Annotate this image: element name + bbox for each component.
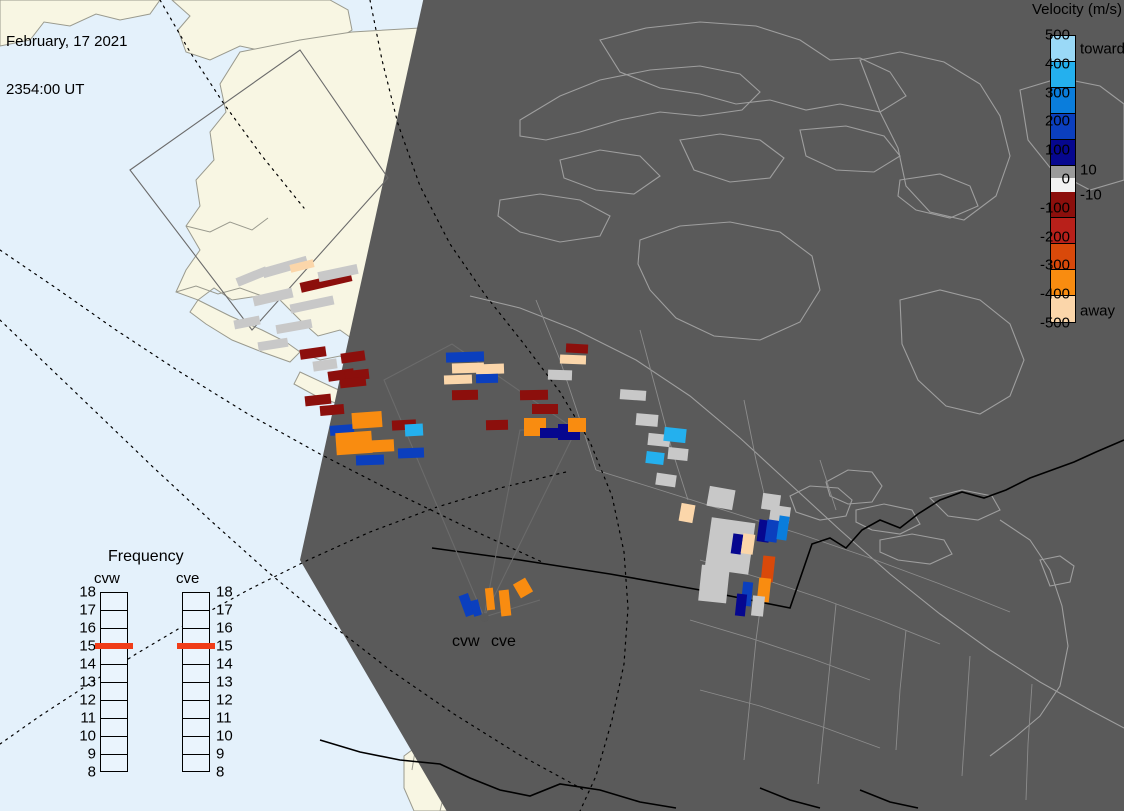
frequency-legend: Frequency cvw18171615141312111098cve1817… — [78, 548, 248, 788]
radar-cell — [364, 439, 395, 453]
frequency-column-cve: cve18171615141312111098 — [160, 570, 226, 785]
colorbar-title: Velocity (m/s) — [1032, 1, 1122, 18]
radar-cell — [532, 404, 558, 414]
colorbar-tick-neg500: -500 — [1040, 315, 1070, 332]
velocity-colorbar: Velocity (m/s) 5004003002001000-100-200-… — [980, 0, 1124, 340]
radar-cell — [405, 424, 424, 437]
frequency-bar-segment — [183, 683, 209, 701]
frequency-tick-cve-10: 10 — [216, 728, 233, 745]
frequency-column-label-cvw: cvw — [94, 570, 120, 587]
radar-map-screenshot: February, 17 2021 2354:00 UT Velocity (m… — [0, 0, 1124, 811]
frequency-marker-cvw — [95, 643, 133, 649]
radar-site-dot — [480, 613, 489, 622]
frequency-tick-cve-11: 11 — [216, 710, 232, 727]
radar-cell — [698, 565, 730, 604]
frequency-column-cvw: cvw18171615141312111098 — [78, 570, 144, 785]
colorbar-tick-500: 500 — [1045, 27, 1070, 44]
frequency-tick-cve-18: 18 — [216, 584, 233, 601]
colorbar-away-label: away — [1080, 303, 1115, 320]
timestamp-date: February, 17 2021 — [6, 34, 127, 50]
colorbar-tick-300: 300 — [1045, 84, 1070, 101]
frequency-bar-segment — [183, 737, 209, 755]
frequency-column-label-cve: cve — [176, 570, 199, 587]
colorbar-tick-neg300: -300 — [1040, 257, 1070, 274]
frequency-bar-segment — [183, 647, 209, 665]
frequency-tick-cve-15: 15 — [216, 638, 233, 655]
colorbar-negative-threshold-label: -10 — [1080, 186, 1102, 203]
radar-cell — [568, 418, 586, 432]
radar-cell — [320, 404, 345, 416]
frequency-bar-segment — [101, 755, 127, 773]
radar-cell — [520, 390, 548, 400]
map-site-label-cve: cve — [491, 633, 516, 651]
radar-cell — [560, 355, 586, 365]
frequency-bar-segment — [183, 719, 209, 737]
frequency-bar-segment — [183, 701, 209, 719]
colorbar-tick-neg200: -200 — [1040, 228, 1070, 245]
frequency-tick-cve-12: 12 — [216, 692, 233, 709]
frequency-tick-cvw-10: 10 — [78, 728, 96, 745]
frequency-bar-segment — [101, 665, 127, 683]
frequency-bar-segment — [183, 665, 209, 683]
frequency-bar-segment — [183, 755, 209, 773]
frequency-tick-cve-14: 14 — [216, 656, 233, 673]
frequency-bar-segment — [101, 593, 127, 611]
frequency-tick-cvw-15: 15 — [78, 638, 96, 655]
timestamp-block: February, 17 2021 2354:00 UT — [6, 2, 127, 130]
radar-cell — [761, 493, 781, 511]
frequency-bar-segment — [101, 647, 127, 665]
frequency-legend-title: Frequency — [108, 548, 184, 566]
radar-cell — [476, 374, 498, 383]
frequency-tick-cvw-11: 11 — [78, 710, 96, 727]
colorbar-tick-0: 0 — [1062, 171, 1070, 188]
radar-cell — [667, 447, 688, 461]
timestamp-time: 2354:00 UT — [6, 82, 127, 98]
radar-cell — [548, 370, 572, 381]
colorbar-tick-neg400: -400 — [1040, 286, 1070, 303]
frequency-tick-cvw-18: 18 — [78, 584, 96, 601]
radar-cell — [645, 451, 664, 465]
radar-cell — [486, 420, 508, 430]
frequency-tick-cvw-12: 12 — [78, 692, 96, 709]
map-site-label-cvw: cvw — [452, 633, 480, 651]
colorbar-positive-threshold-label: 10 — [1080, 162, 1097, 179]
radar-cell — [636, 413, 659, 427]
radar-cell — [356, 455, 384, 466]
frequency-marker-cve — [177, 643, 215, 649]
frequency-tick-cve-16: 16 — [216, 620, 233, 637]
frequency-tick-cvw-13: 13 — [78, 674, 96, 691]
frequency-bar-segment — [101, 683, 127, 701]
frequency-bar-cvw — [100, 592, 128, 772]
radar-cell — [446, 351, 484, 362]
frequency-bar-segment — [183, 611, 209, 629]
frequency-tick-cve-13: 13 — [216, 674, 233, 691]
frequency-tick-cvw-8: 8 — [78, 764, 96, 781]
radar-cell — [452, 390, 478, 400]
radar-cell — [566, 343, 588, 353]
radar-cell — [663, 427, 686, 443]
frequency-tick-cvw-9: 9 — [78, 746, 96, 763]
frequency-tick-cve-17: 17 — [216, 602, 233, 619]
frequency-bar-segment — [101, 611, 127, 629]
colorbar-tick-100: 100 — [1045, 142, 1070, 159]
colorbar-tick-neg100: -100 — [1040, 199, 1070, 216]
frequency-tick-cve-9: 9 — [216, 746, 224, 763]
frequency-tick-cve-8: 8 — [216, 764, 224, 781]
radar-cell — [398, 448, 424, 459]
radar-cell — [351, 411, 382, 429]
radar-cell — [620, 389, 647, 401]
colorbar-tick-400: 400 — [1045, 55, 1070, 72]
frequency-bar-cve — [182, 592, 210, 772]
frequency-tick-cvw-14: 14 — [78, 656, 96, 673]
radar-cell — [476, 364, 504, 375]
frequency-bar-segment — [101, 737, 127, 755]
radar-cell — [751, 595, 765, 616]
colorbar-tick-200: 200 — [1045, 113, 1070, 130]
radar-cell — [444, 375, 472, 385]
colorbar-toward-label: toward — [1080, 41, 1124, 58]
frequency-tick-cvw-16: 16 — [78, 620, 96, 637]
frequency-bar-segment — [183, 593, 209, 611]
frequency-tick-cvw-17: 17 — [78, 602, 96, 619]
frequency-bar-segment — [101, 719, 127, 737]
frequency-bar-segment — [101, 701, 127, 719]
